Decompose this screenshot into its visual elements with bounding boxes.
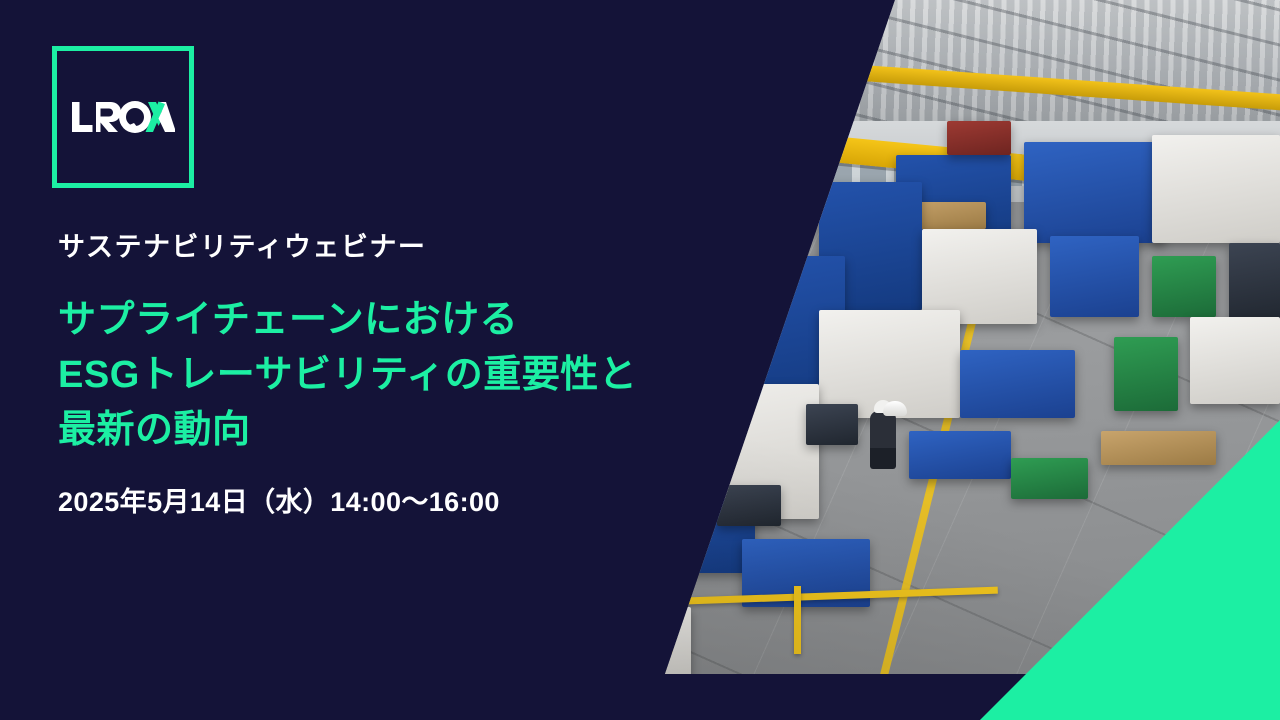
title-line-1: サプライチェーンにおける <box>58 293 637 348</box>
eyebrow-label: サステナビリティウェビナー <box>58 225 426 264</box>
lrqa-logo-mark <box>71 99 175 135</box>
title-line-2: ESGトレーサビリティの重要性と <box>58 348 637 403</box>
content-column: サステナビリティウェビナー サプライチェーンにおける ESGトレーサビリティの重… <box>0 0 700 720</box>
page-title: サプライチェーンにおける ESGトレーサビリティの重要性と 最新の動向 <box>58 293 637 458</box>
title-line-3: 最新の動向 <box>58 403 637 458</box>
lrqa-logo <box>52 46 194 188</box>
event-datetime: 2025年5月14日（水）14:00〜16:00 <box>58 480 500 519</box>
webinar-slide: サステナビリティウェビナー サプライチェーンにおける ESGトレーサビリティの重… <box>0 0 1280 720</box>
